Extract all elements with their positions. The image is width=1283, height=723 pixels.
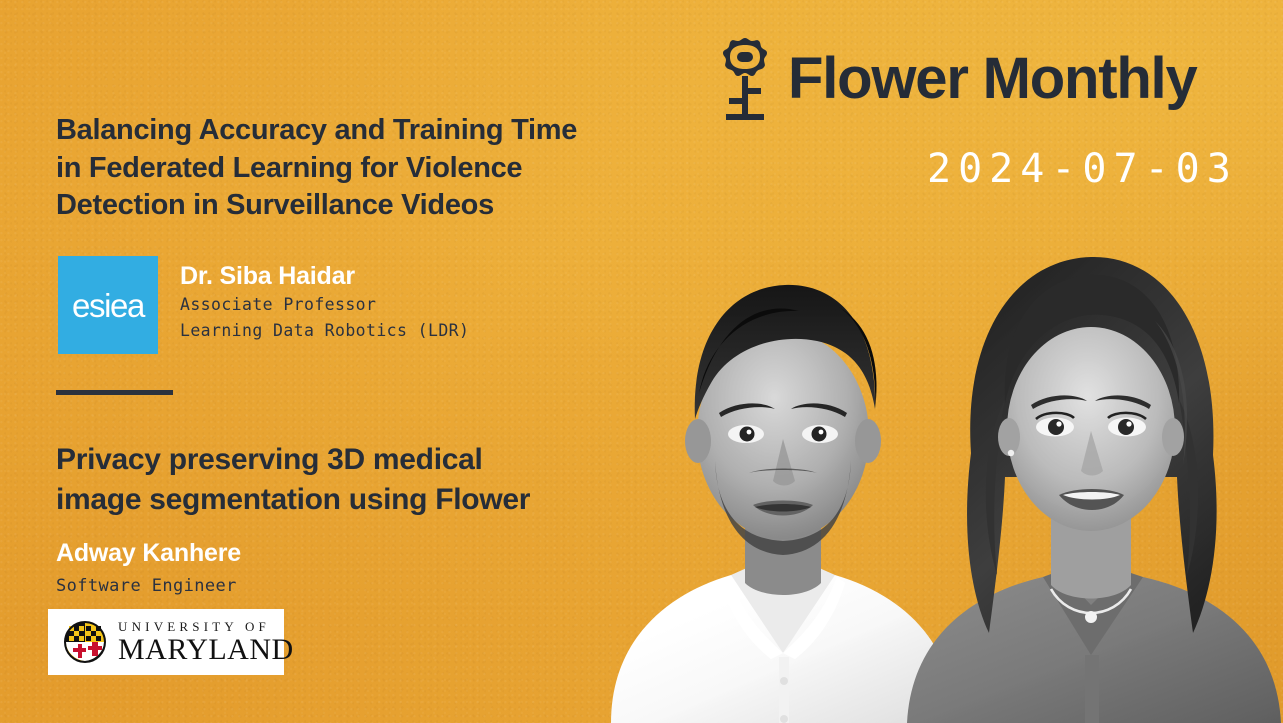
talk-one-speaker: esiea Dr. Siba Haidar Associate Professo…: [58, 256, 469, 354]
talk-two-title: Privacy preserving 3D medical image segm…: [56, 440, 656, 519]
talk-two-title-line1: Privacy preserving 3D medical: [56, 440, 656, 480]
talk-two-title-line2: image segmentation using Flower: [56, 480, 656, 520]
talk-two: Privacy preserving 3D medical image segm…: [56, 440, 656, 596]
talk-one-title-line3: Detection in Surveillance Videos: [56, 187, 716, 225]
umd-logo-bottom-text: MARYLAND: [118, 635, 294, 665]
issue-date: 2024-07-03: [927, 146, 1238, 192]
talk-one-speaker-role: Associate Professor: [180, 294, 469, 317]
talk-one-speaker-group: Learning Data Robotics (LDR): [180, 320, 469, 343]
umd-logo-top-text: UNIVERSITY OF: [118, 620, 294, 633]
talk-one-speaker-text: Dr. Siba Haidar Associate Professor Lear…: [180, 256, 469, 342]
talk-one: Balancing Accuracy and Training Time in …: [56, 112, 716, 225]
university-of-maryland-logo: UNIVERSITY OF MARYLAND: [48, 609, 284, 675]
section-divider: [56, 390, 173, 395]
brand-header: Flower Monthly: [716, 36, 1197, 122]
umd-wordmark: UNIVERSITY OF MARYLAND: [118, 620, 294, 665]
speaker-portraits: [593, 203, 1283, 723]
flower-icon: [716, 36, 774, 122]
portrait-photo-woman: [893, 203, 1283, 723]
maryland-flag-globe-icon: [62, 620, 108, 664]
talk-one-title-line2: in Federated Learning for Violence: [56, 150, 716, 188]
brand-title: Flower Monthly: [788, 50, 1197, 108]
talk-two-speaker-role: Software Engineer: [56, 576, 656, 596]
esiea-logo-text: esiea: [72, 289, 144, 322]
talk-one-title-line1: Balancing Accuracy and Training Time: [56, 112, 716, 150]
flower-monthly-poster: Flower Monthly 2024-07-03 Balancing Accu…: [0, 0, 1283, 723]
esiea-logo: esiea: [58, 256, 158, 354]
talk-one-speaker-name: Dr. Siba Haidar: [180, 262, 469, 291]
talk-two-speaker-name: Adway Kanhere: [56, 539, 656, 568]
talk-one-title: Balancing Accuracy and Training Time in …: [56, 112, 716, 225]
